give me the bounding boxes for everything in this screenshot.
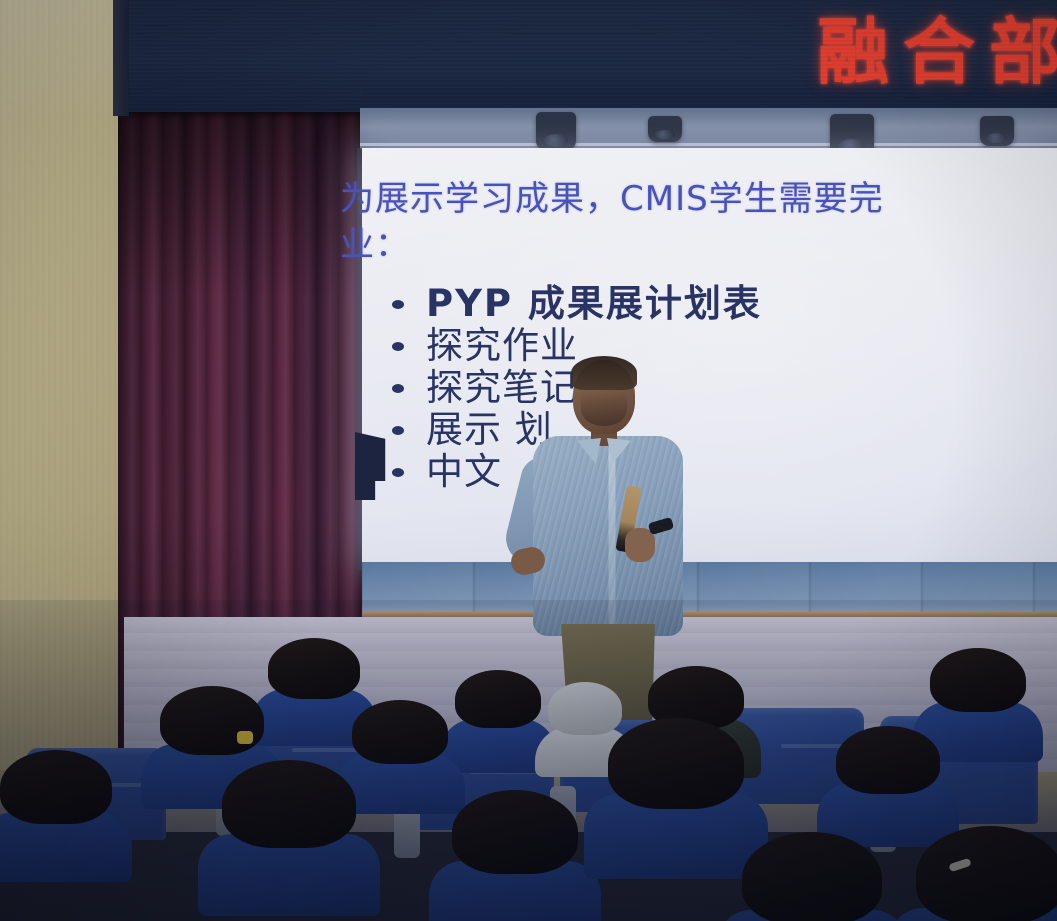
audience-member-head — [160, 686, 264, 755]
audience-member-head — [455, 670, 541, 728]
light-lens-icon — [987, 133, 1007, 143]
truss-highlight-line — [360, 143, 1057, 146]
audience-member-head — [268, 638, 360, 699]
audience-member — [222, 760, 356, 902]
audience-member-head — [608, 718, 744, 809]
led-panel-edge — [113, 0, 129, 116]
led-banner-panel: 融合部 — [124, 0, 1057, 112]
audience-member — [916, 826, 1057, 921]
stage-light-icon — [536, 112, 576, 150]
slide-bullet-text: 中文 — [426, 451, 502, 492]
bullet-dot-icon — [392, 426, 404, 435]
audience-member-head — [222, 760, 356, 848]
auditorium-presentation-photo: 融合部 为展示学习成果，CMIS学生需要完 业： PYP 成果展计划表探究作业探… — [0, 0, 1057, 921]
audience-member-head — [0, 750, 112, 824]
audience-member-head — [836, 726, 940, 794]
presenter-hair — [571, 356, 637, 390]
stage-light-icon — [648, 116, 682, 142]
audience-member — [836, 726, 940, 836]
audience-member-head — [930, 648, 1026, 712]
presenter-face-shadow — [581, 392, 627, 426]
audience-member-head — [742, 832, 882, 921]
audience-member — [930, 648, 1026, 752]
audience-member — [455, 670, 541, 764]
led-banner-text: 融合部 — [817, 16, 1057, 88]
audience-member — [0, 750, 112, 870]
audience-member-head — [916, 826, 1057, 921]
bullet-dot-icon — [392, 342, 404, 351]
slide-heading: 为展示学习成果，CMIS学生需要完 业： — [340, 176, 1057, 268]
audience-member-head — [452, 790, 578, 874]
wall-light-sheen — [0, 0, 124, 120]
slide-heading-line-1: 为展示学习成果，CMIS学生需要完 — [340, 179, 884, 219]
audience-member — [452, 790, 578, 921]
slide-bullet-text: PYP 成果展计划表 — [426, 283, 762, 324]
audience-member — [742, 832, 882, 921]
light-lens-icon — [655, 130, 675, 139]
audience-member — [352, 700, 448, 804]
audience-member — [608, 718, 744, 864]
audience — [0, 600, 1057, 921]
slide-bullet-item: PYP 成果展计划表 — [392, 283, 1012, 324]
audience-member — [268, 638, 360, 736]
stage-light-icon — [980, 116, 1014, 146]
slide-heading-line-2: 业： — [340, 222, 1057, 268]
light-lens-icon — [544, 134, 568, 147]
audience-member-head — [352, 700, 448, 764]
bullet-dot-icon — [392, 384, 404, 393]
bullet-dot-icon — [392, 468, 404, 477]
bullet-dot-icon — [392, 300, 404, 309]
hair-tie — [237, 731, 253, 744]
